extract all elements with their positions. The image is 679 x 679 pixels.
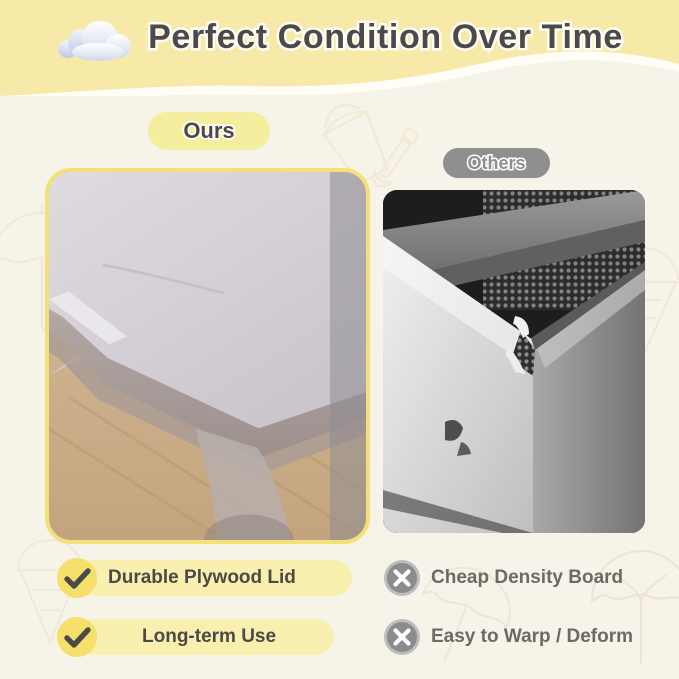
- photo-others-image: [383, 190, 645, 533]
- badge-ours-label: Ours: [183, 118, 234, 144]
- feature-row-con[interactable]: Easy to Warp / Deform: [383, 613, 668, 661]
- feature-label: Long-term Use: [142, 626, 276, 648]
- feature-row-con[interactable]: Cheap Density Board: [383, 554, 668, 602]
- feature-label: Easy to Warp / Deform: [431, 626, 633, 648]
- check-circle-icon: [56, 557, 98, 599]
- photo-ours: [45, 168, 370, 544]
- badge-others: Others: [443, 148, 550, 178]
- x-circle-icon: [383, 618, 421, 656]
- features-section: Durable Plywood Lid Long-term Use: [0, 554, 679, 672]
- photo-others: [383, 190, 645, 533]
- feature-row-pro[interactable]: Durable Plywood Lid: [56, 554, 366, 602]
- badge-others-label: Others: [467, 153, 525, 174]
- features-cons-column: Cheap Density Board Easy to Warp / Defor…: [383, 554, 668, 661]
- cloud-icon: [56, 16, 134, 62]
- photo-ours-image: [49, 172, 366, 540]
- header-banner: Perfect Condition Over Time: [0, 0, 679, 96]
- badge-ours: Ours: [148, 112, 270, 150]
- check-circle-icon: [56, 616, 98, 658]
- x-circle-icon: [383, 559, 421, 597]
- feature-label: Cheap Density Board: [431, 567, 623, 589]
- feature-row-pro[interactable]: Long-term Use: [56, 613, 366, 661]
- feature-label: Durable Plywood Lid: [108, 567, 296, 589]
- page-title: Perfect Condition Over Time: [148, 18, 623, 57]
- features-pros-column: Durable Plywood Lid Long-term Use: [56, 554, 366, 661]
